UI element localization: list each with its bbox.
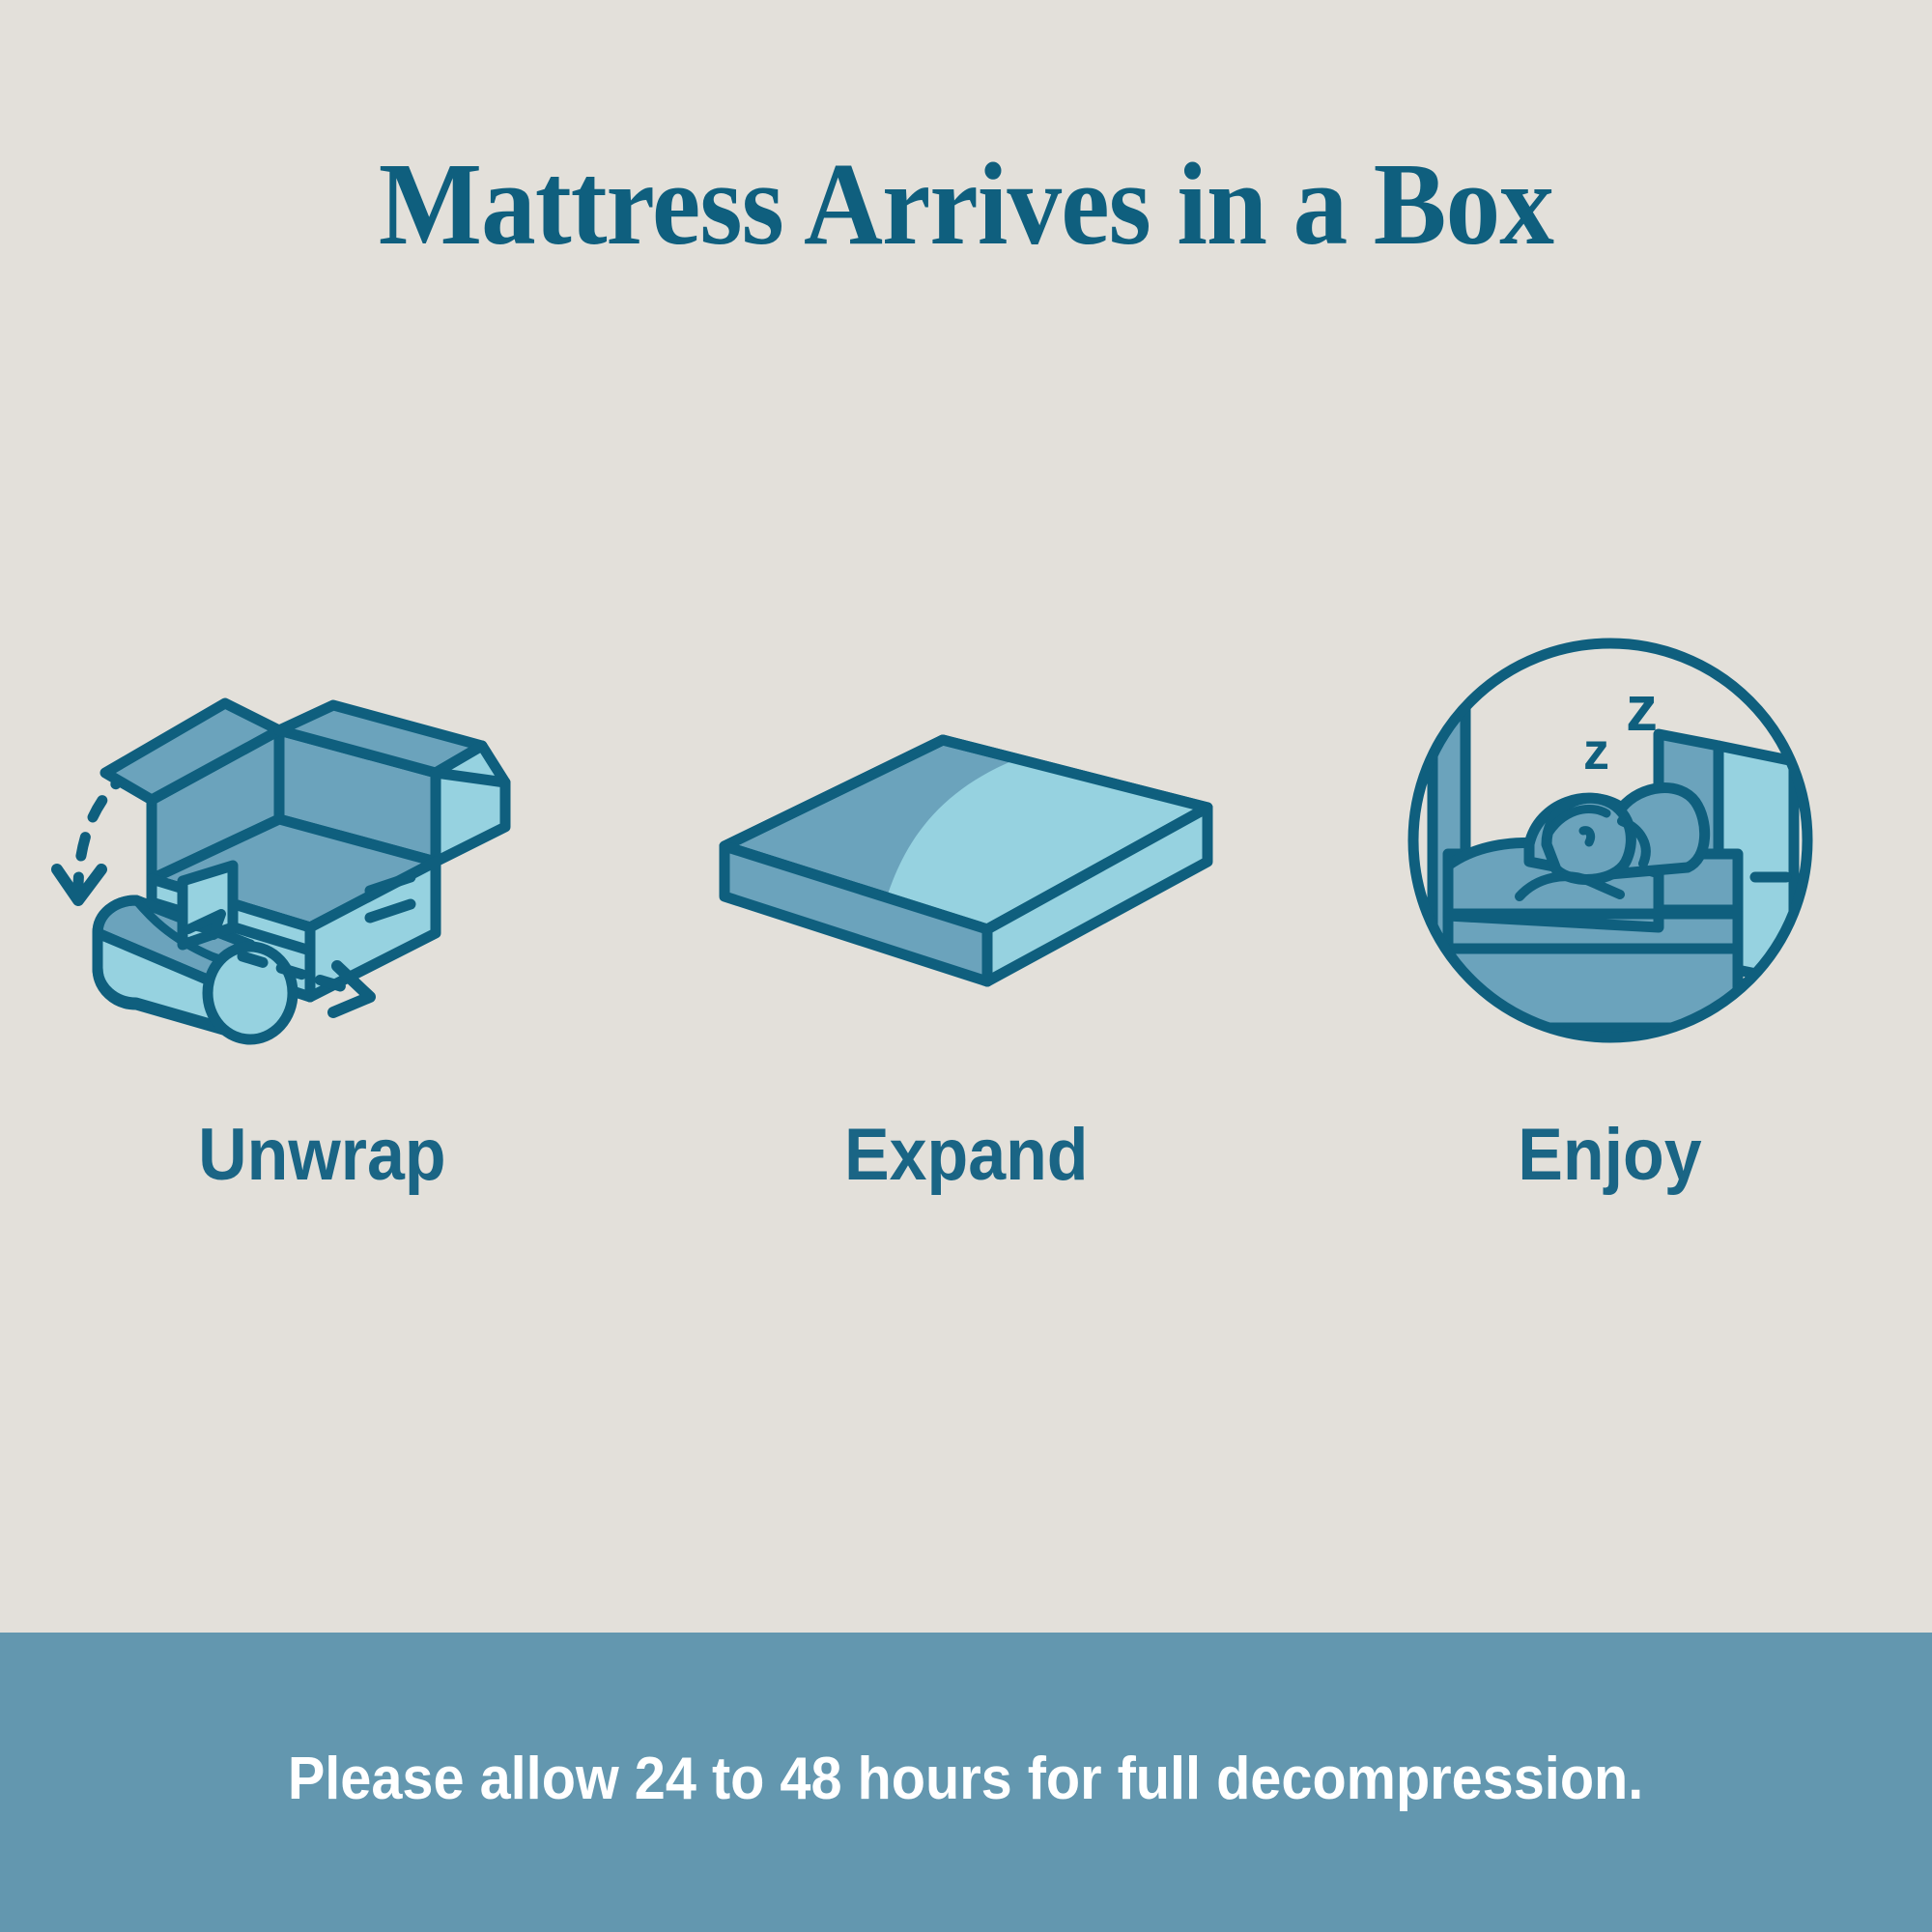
infographic-poster: Mattress Arrives in a Box bbox=[0, 0, 1932, 1932]
step-label-enjoy: Enjoy bbox=[1518, 1119, 1701, 1192]
sleep-z-large-icon: z bbox=[1626, 672, 1658, 744]
page-title-container: Mattress Arrives in a Box bbox=[0, 143, 1932, 267]
sleep-z-small-icon: z bbox=[1583, 723, 1609, 781]
flat-mattress-icon bbox=[696, 638, 1236, 1043]
step-label-unwrap: Unwrap bbox=[198, 1119, 445, 1192]
step-unwrap: Unwrap bbox=[22, 638, 621, 1192]
step-enjoy: z z Enjoy bbox=[1311, 638, 1910, 1192]
step-label-expand: Expand bbox=[844, 1119, 1089, 1192]
enjoy-illustration: z z bbox=[1340, 638, 1881, 1043]
person-sleeping-in-bed-icon: z z bbox=[1340, 638, 1881, 1043]
steps-row: Unwrap bbox=[0, 638, 1932, 1192]
footer-note: Please allow 24 to 48 hours for full dec… bbox=[288, 1747, 1643, 1818]
page-title: Mattress Arrives in a Box bbox=[68, 143, 1864, 267]
step-expand: Expand bbox=[667, 638, 1265, 1192]
footer-band: Please allow 24 to 48 hours for full dec… bbox=[0, 1633, 1932, 1932]
box-with-rolled-mattress-icon bbox=[51, 638, 592, 1043]
expand-illustration bbox=[696, 638, 1236, 1043]
unwrap-illustration bbox=[51, 638, 592, 1043]
